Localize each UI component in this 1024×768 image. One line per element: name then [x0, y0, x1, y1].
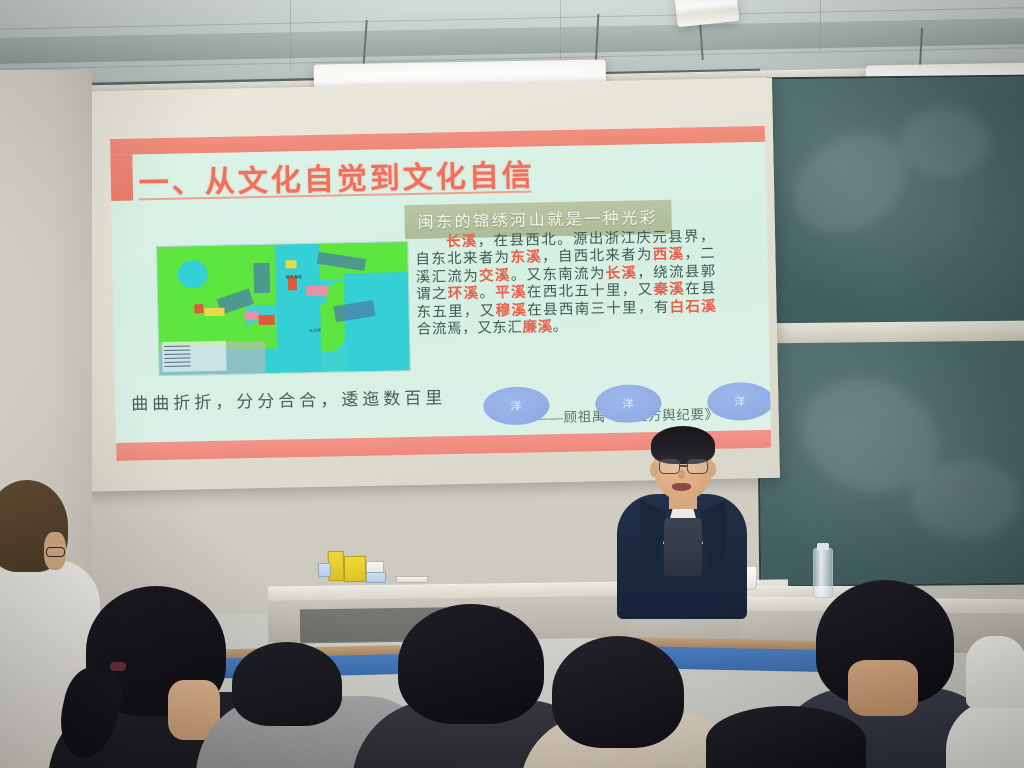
river-name-highlight: 长溪: [445, 234, 478, 251]
student-glasses: [46, 547, 65, 557]
river-name-highlight: 西溪: [653, 247, 685, 264]
hair-tie: [110, 662, 126, 671]
river-name-highlight: 廉溪: [522, 319, 553, 336]
chalkboard-upper-right: [767, 75, 1024, 326]
river-name-highlight: 秦溪: [653, 282, 685, 299]
chalk-box-yellow-2[interactable]: [344, 556, 366, 582]
river-name-highlight: 平溪: [495, 285, 527, 302]
presentation-slide: 一、从文化自觉到文化自信 闽东的锦绣河山就是一种光彩: [110, 126, 771, 461]
water-bottle[interactable]: [813, 548, 833, 598]
classical-text-run: ，自西北来者为: [542, 248, 653, 266]
bottle-cap: [817, 543, 829, 550]
river-name-highlight: 白石溪: [670, 298, 717, 315]
eyeglasses-lens-left: [659, 459, 680, 474]
classical-text-run: 合流焉，又东汇: [417, 320, 523, 338]
text-citation: ——顾祖禹《读史方舆纪要》: [418, 403, 718, 429]
classroom-scene: 一、从文化自觉到文化自信 闽东的锦绣河山就是一种光彩: [0, 0, 1024, 768]
white-object-right: [966, 636, 1024, 708]
classical-text-run: 在西北五十里，又: [527, 282, 654, 301]
paper-sheet: [396, 576, 428, 583]
ellipse-shape-3: 洋: [707, 382, 771, 421]
river-name-highlight: 穆溪: [495, 302, 527, 319]
map-legend: [162, 341, 227, 372]
river-name-highlight: 长溪: [606, 265, 638, 282]
map-image: 闽东海域 三沙湾: [156, 241, 411, 376]
classical-text-run: 。又东南流为: [511, 266, 606, 284]
river-name-highlight: 东溪: [510, 250, 542, 267]
lecturer-hair: [651, 426, 715, 464]
box-blue[interactable]: [366, 572, 386, 583]
box-blue-small[interactable]: [318, 563, 332, 578]
lecturer-ear-right: [708, 462, 716, 477]
eyeglasses-bridge: [680, 465, 687, 467]
river-name-highlight: 环溪: [448, 286, 480, 303]
title-accent-tab: [110, 155, 133, 201]
classical-text-run: 。: [479, 286, 495, 302]
classical-text-run: 在县西南三十里，有: [527, 299, 670, 318]
eyeglasses-lens-right: [687, 459, 708, 474]
lecturer-sweater: [664, 518, 702, 576]
classical-text-run: 。: [553, 319, 568, 335]
lecturer-brow-right: [688, 455, 704, 458]
slide-body: 一、从文化自觉到文化自信 闽东的锦绣河山就是一种光彩: [110, 142, 771, 443]
lecturer-nose: [678, 470, 685, 479]
slide-bottom-caption: 曲曲折折，分分合合，逶迤数百里: [131, 383, 446, 414]
classical-text-block: 长溪，在县西北。源出浙江庆元县界，自东北来者为东溪，自西北来者为西溪，二溪汇流为…: [415, 229, 717, 339]
chalkboard-lower-right: [757, 337, 1024, 588]
lecturer-mouth: [672, 483, 691, 491]
lecturer-ear-left: [650, 462, 658, 477]
river-name-highlight: 交溪: [479, 268, 511, 285]
lecturer-brow-left: [660, 455, 676, 458]
chalk-tray-upper: [756, 321, 1024, 344]
